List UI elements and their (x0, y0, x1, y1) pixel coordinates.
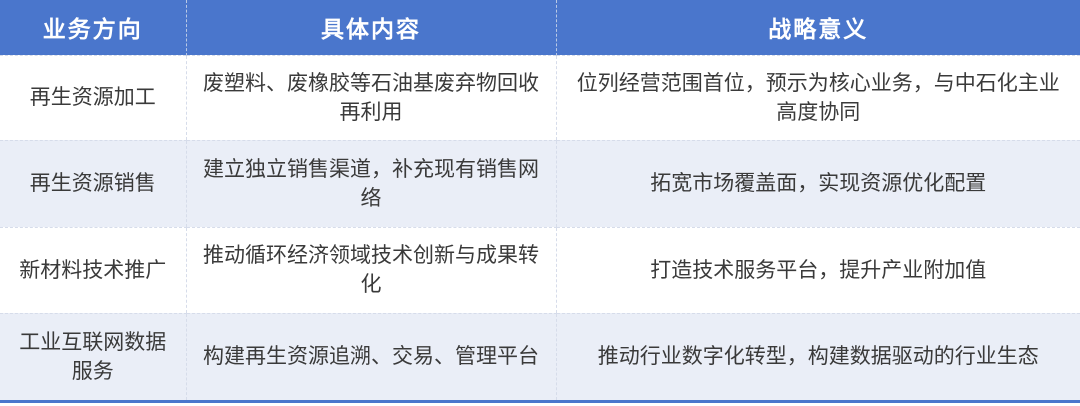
table-row: 工业互联网数据服务 构建再生资源追溯、交易、管理平台 推动行业数字化转型，构建数… (0, 313, 1080, 400)
table-row: 新材料技术推广 推动循环经济领域技术创新与成果转化 打造技术服务平台，提升产业附… (0, 227, 1080, 313)
cell-strategic-significance: 位列经营范围首位，预示为核心业务，与中石化主业高度协同 (556, 55, 1080, 140)
column-header-business-direction: 业务方向 (0, 0, 186, 55)
cell-strategic-significance: 拓宽市场覆盖面，实现资源优化配置 (556, 140, 1080, 227)
table-row: 再生资源加工 废塑料、废橡胶等石油基废弃物回收再利用 位列经营范围首位，预示为核… (0, 55, 1080, 140)
cell-specific-content: 废塑料、废橡胶等石油基废弃物回收再利用 (186, 55, 556, 140)
business-strategy-table: 业务方向 具体内容 战略意义 再生资源加工 废塑料、废橡胶等石油基废弃物回收再利… (0, 0, 1080, 401)
cell-business-direction: 工业互联网数据服务 (0, 313, 186, 400)
cell-strategic-significance: 推动行业数字化转型，构建数据驱动的行业生态 (556, 313, 1080, 400)
cell-specific-content: 构建再生资源追溯、交易、管理平台 (186, 313, 556, 400)
column-header-strategic-significance: 战略意义 (556, 0, 1080, 55)
table-header: 业务方向 具体内容 战略意义 (0, 0, 1080, 55)
cell-business-direction: 新材料技术推广 (0, 227, 186, 313)
table-row: 再生资源销售 建立独立销售渠道，补充现有销售网络 拓宽市场覆盖面，实现资源优化配… (0, 140, 1080, 227)
business-strategy-table-container: 业务方向 具体内容 战略意义 再生资源加工 废塑料、废橡胶等石油基废弃物回收再利… (0, 0, 1080, 406)
cell-specific-content: 推动循环经济领域技术创新与成果转化 (186, 227, 556, 313)
cell-business-direction: 再生资源销售 (0, 140, 186, 227)
table-body: 再生资源加工 废塑料、废橡胶等石油基废弃物回收再利用 位列经营范围首位，预示为核… (0, 55, 1080, 400)
cell-strategic-significance: 打造技术服务平台，提升产业附加值 (556, 227, 1080, 313)
cell-business-direction: 再生资源加工 (0, 55, 186, 140)
cell-specific-content: 建立独立销售渠道，补充现有销售网络 (186, 140, 556, 227)
column-header-specific-content: 具体内容 (186, 0, 556, 55)
table-header-row: 业务方向 具体内容 战略意义 (0, 0, 1080, 55)
table-bottom-rule (0, 400, 1080, 403)
